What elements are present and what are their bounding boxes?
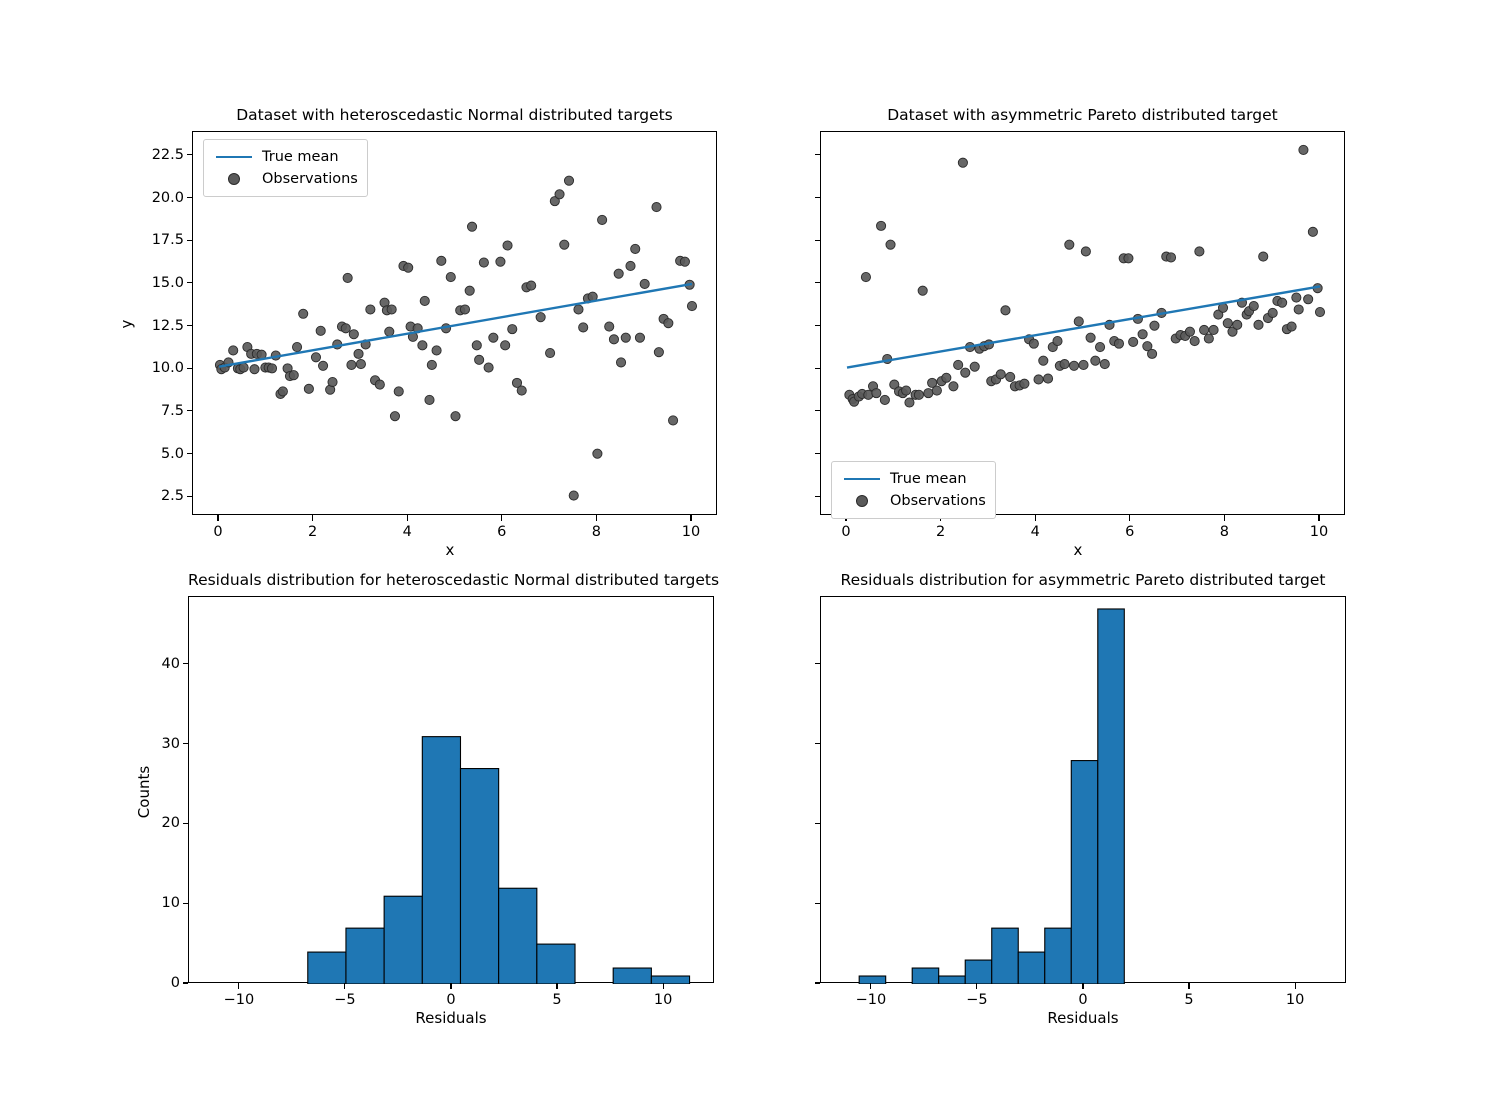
x-tick-label: 5 xyxy=(1184,992,1193,1008)
y-tick-mark xyxy=(183,982,189,983)
y-tick-label: 7.5 xyxy=(124,403,184,419)
line-swatch-icon xyxy=(212,156,256,159)
true-mean-line xyxy=(219,284,692,367)
x-tick-mark xyxy=(238,983,239,989)
x-tick-label: 10 xyxy=(654,992,672,1008)
histogram-bar xyxy=(939,976,966,984)
xlabel-scatter-pareto: x xyxy=(1074,541,1083,559)
axes-frame-hist-normal xyxy=(188,596,714,983)
axes-frame-hist-pareto xyxy=(820,596,1346,983)
y-tick-label: 20.0 xyxy=(124,190,184,206)
subplot-title-scatter-pareto: Dataset with asymmetric Pareto distribut… xyxy=(820,106,1345,124)
x-tick-label: 10 xyxy=(1310,524,1328,540)
histogram-bar xyxy=(992,928,1019,984)
x-tick-label: 8 xyxy=(1220,524,1229,540)
y-tick-mark xyxy=(187,453,193,454)
histogram-bar xyxy=(1098,609,1125,984)
y-tick-mark xyxy=(815,903,821,904)
legend-label-observations: Observations xyxy=(256,171,358,187)
plot-canvas-hist-pareto xyxy=(821,597,1347,984)
y-tick-label: 2.5 xyxy=(124,488,184,504)
x-tick-mark xyxy=(1129,515,1130,521)
y-tick-mark xyxy=(815,282,821,283)
x-tick-label: 6 xyxy=(1125,524,1134,540)
legend-label-observations: Observations xyxy=(884,493,986,509)
plot-canvas-scatter-pareto xyxy=(821,132,1346,516)
y-tick-mark xyxy=(187,325,193,326)
x-tick-label: −5 xyxy=(966,992,987,1008)
x-tick-mark xyxy=(501,515,502,521)
y-tick-label: 10.0 xyxy=(124,360,184,376)
histogram-bar xyxy=(651,976,689,984)
x-tick-mark xyxy=(1188,983,1189,989)
x-tick-label: 10 xyxy=(682,524,700,540)
legend-scatter-normal: True mean Observations xyxy=(203,139,368,197)
y-tick-mark xyxy=(815,325,821,326)
histogram-bar xyxy=(346,928,384,984)
ylabel-hist-normal: Counts xyxy=(135,766,153,818)
y-tick-mark xyxy=(815,240,821,241)
y-tick-label: 30 xyxy=(120,736,180,752)
true-mean-line xyxy=(847,286,1320,367)
legend-row-true-mean: True mean xyxy=(840,468,986,490)
y-tick-mark xyxy=(183,823,189,824)
y-tick-label: 22.5 xyxy=(124,147,184,163)
legend-label-true-mean: True mean xyxy=(884,471,967,487)
y-tick-label: 20 xyxy=(120,815,180,831)
x-tick-label: 10 xyxy=(1286,992,1304,1008)
x-tick-mark xyxy=(1295,983,1296,989)
histogram-bar xyxy=(613,968,651,984)
x-tick-label: 0 xyxy=(213,524,222,540)
x-tick-mark xyxy=(976,983,977,989)
subplot-title-hist-pareto: Residuals distribution for asymmetric Pa… xyxy=(820,571,1346,589)
marker-swatch-icon xyxy=(212,173,256,185)
xlabel-hist-pareto: Residuals xyxy=(1047,1009,1118,1027)
scatter-points xyxy=(215,176,696,500)
y-tick-label: 5.0 xyxy=(124,446,184,462)
histogram-bar xyxy=(859,976,886,984)
x-tick-mark xyxy=(1224,515,1225,521)
y-tick-label: 12.5 xyxy=(124,318,184,334)
legend-row-observations: Observations xyxy=(840,490,986,512)
y-tick-mark xyxy=(815,982,821,983)
x-tick-mark xyxy=(1082,983,1083,989)
subplot-title-scatter-normal: Dataset with heteroscedastic Normal dist… xyxy=(192,106,717,124)
histogram-bar xyxy=(308,952,346,984)
y-tick-mark xyxy=(815,154,821,155)
x-tick-mark xyxy=(1035,515,1036,521)
x-tick-label: 0 xyxy=(841,524,850,540)
legend-label-true-mean: True mean xyxy=(256,149,339,165)
x-tick-label: 8 xyxy=(592,524,601,540)
y-tick-mark xyxy=(815,410,821,411)
x-tick-mark xyxy=(217,515,218,521)
y-tick-label: 17.5 xyxy=(124,232,184,248)
x-tick-label: 2 xyxy=(936,524,945,540)
y-tick-mark xyxy=(815,663,821,664)
x-tick-label: 2 xyxy=(308,524,317,540)
x-tick-mark xyxy=(596,515,597,521)
subplot-title-hist-normal: Residuals distribution for heteroscedast… xyxy=(188,571,714,589)
histogram-bar xyxy=(537,944,575,984)
y-tick-mark xyxy=(183,663,189,664)
y-tick-mark xyxy=(187,154,193,155)
x-tick-label: −10 xyxy=(856,992,887,1008)
histogram-bar xyxy=(460,769,498,984)
histogram-bar xyxy=(499,888,537,984)
histogram-bar xyxy=(384,896,422,984)
matplotlib-figure: Dataset with heteroscedastic Normal dist… xyxy=(0,0,1500,1100)
histogram-bar xyxy=(965,960,992,984)
x-tick-mark xyxy=(450,983,451,989)
y-tick-mark xyxy=(187,410,193,411)
y-tick-mark xyxy=(183,903,189,904)
x-tick-label: 4 xyxy=(1031,524,1040,540)
histogram-bar xyxy=(422,737,460,984)
y-tick-mark xyxy=(187,197,193,198)
xlabel-hist-normal: Residuals xyxy=(415,1009,486,1027)
y-tick-mark xyxy=(187,282,193,283)
x-tick-label: 0 xyxy=(446,992,455,1008)
x-tick-mark xyxy=(344,983,345,989)
legend-row-observations: Observations xyxy=(212,168,358,190)
y-tick-label: 10 xyxy=(120,895,180,911)
legend-scatter-pareto: True mean Observations xyxy=(831,461,996,519)
scatter-points xyxy=(845,145,1325,407)
xlabel-scatter-normal: x xyxy=(446,541,455,559)
histogram-bar xyxy=(912,968,939,984)
histogram-bars xyxy=(308,737,690,984)
x-tick-label: 0 xyxy=(1078,992,1087,1008)
x-tick-label: −5 xyxy=(334,992,355,1008)
y-tick-mark xyxy=(183,743,189,744)
x-tick-label: 5 xyxy=(552,992,561,1008)
y-tick-mark xyxy=(815,823,821,824)
histogram-bar xyxy=(1045,928,1072,984)
marker-swatch-icon xyxy=(840,495,884,507)
x-tick-label: 4 xyxy=(403,524,412,540)
axes-frame-scatter-pareto xyxy=(820,131,1345,515)
y-tick-mark xyxy=(815,368,821,369)
x-tick-mark xyxy=(1318,515,1319,521)
y-tick-mark xyxy=(815,197,821,198)
y-tick-mark xyxy=(187,368,193,369)
histogram-bar xyxy=(1071,761,1098,984)
y-tick-label: 0 xyxy=(120,975,180,991)
plot-canvas-hist-normal xyxy=(189,597,715,984)
y-tick-label: 15.0 xyxy=(124,275,184,291)
y-tick-mark xyxy=(815,453,821,454)
x-tick-mark xyxy=(870,983,871,989)
y-tick-label: 40 xyxy=(120,656,180,672)
x-tick-mark xyxy=(312,515,313,521)
x-tick-mark xyxy=(407,515,408,521)
line-swatch-icon xyxy=(840,478,884,481)
y-tick-mark xyxy=(815,496,821,497)
histogram-bars xyxy=(859,609,1124,984)
x-tick-mark xyxy=(663,983,664,989)
x-tick-mark xyxy=(690,515,691,521)
y-tick-mark xyxy=(187,496,193,497)
x-tick-mark xyxy=(556,983,557,989)
y-tick-mark xyxy=(187,240,193,241)
x-tick-label: 6 xyxy=(497,524,506,540)
histogram-bar xyxy=(1018,952,1045,984)
x-tick-label: −10 xyxy=(224,992,255,1008)
y-tick-mark xyxy=(815,743,821,744)
legend-row-true-mean: True mean xyxy=(212,146,358,168)
